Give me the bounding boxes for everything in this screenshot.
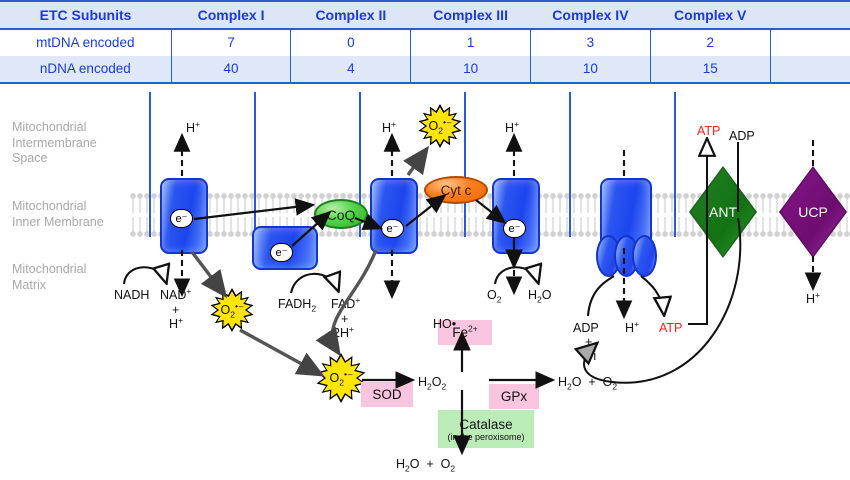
row-label-ndna: nDNA encoded: [0, 56, 171, 83]
cell-mtdna-c4: 3: [531, 29, 651, 56]
complex-iv-body[interactable]: [492, 178, 540, 254]
column-divider-4: [569, 92, 571, 237]
ros-arrow-complex-i: [192, 252, 224, 294]
proton-label-ucp: H+: [806, 292, 820, 306]
complexv-to-atp-arrow: [641, 276, 664, 314]
complex-iii-electron: e⁻: [381, 219, 404, 238]
proton-label-complex-i: H+: [186, 121, 200, 135]
cell-ndna-c3: 10: [411, 56, 531, 83]
table-row: mtDNA encoded 7 0 1 3 2: [0, 29, 850, 56]
column-divider-0: [149, 92, 151, 237]
proton-label-complex-iv: H+: [505, 121, 519, 135]
pi-label: Pi: [585, 349, 596, 363]
complex-iii-body[interactable]: [370, 178, 418, 254]
oxygen-input-label: O2: [487, 288, 501, 302]
col-header-0: ETC Subunits: [0, 1, 171, 29]
adp-to-complexv-arrow: [588, 276, 614, 316]
cell-ndna-spacer: [770, 56, 850, 83]
zone-label-intermembrane-space: Mitochondrial Intermembrane Space: [12, 120, 97, 167]
gpx-label: GPx: [501, 389, 527, 404]
catalase-box[interactable]: Catalase (in the peroxisome): [438, 410, 534, 448]
fadh2-label: FADH2: [278, 297, 316, 311]
coq-carrier[interactable]: CoQ: [314, 199, 368, 229]
adp-label: ADP: [573, 321, 599, 335]
ros-arrow-c1-pool: [240, 330, 320, 374]
fad-2h-label: 2H+: [333, 326, 354, 340]
complex-i-electron: e⁻: [170, 209, 193, 228]
col-header-spacer: [770, 1, 850, 29]
cell-mtdna-c1: 7: [171, 29, 291, 56]
sod-enzyme-box[interactable]: SOD: [361, 382, 413, 407]
col-header-5: Complex V: [650, 1, 770, 29]
gpx-products-label: H2O + O2: [558, 375, 617, 389]
cell-mtdna-c5: 2: [650, 29, 770, 56]
nadh-oxidation-arrow: [124, 267, 166, 284]
fadh2-oxidation-arrow: [291, 274, 338, 293]
atp-ims-label: ATP: [697, 124, 720, 138]
diagram-root: ETC Subunits Complex I Complex II Comple…: [0, 0, 850, 480]
ros-arrow-complex-iii: [408, 150, 426, 175]
etc-subunits-table: ETC Subunits Complex I Complex II Comple…: [0, 0, 850, 84]
superoxide-label-c3: O2• –: [429, 119, 452, 133]
zone-label-matrix: Mitochondrial Matrix: [12, 262, 86, 293]
column-divider-1: [254, 92, 256, 237]
catalase-label: Catalase: [459, 417, 512, 432]
cell-mtdna-spacer: [770, 29, 850, 56]
cell-mtdna-c3: 1: [411, 29, 531, 56]
complex-v-lobe-right: [632, 235, 657, 277]
superoxide-label-c1: O2• –: [221, 303, 244, 317]
complex-ii-electron: e⁻: [270, 243, 293, 262]
superoxide-label-pool: O2• –: [330, 371, 353, 385]
cell-ndna-c5: 15: [650, 56, 770, 83]
atp-matrix-label: ATP: [659, 321, 682, 335]
column-divider-5: [674, 92, 676, 237]
water-output-label: H2O: [528, 288, 552, 302]
hydrogen-peroxide-label: H2O2: [418, 375, 446, 389]
catalase-products-label: H2O + O2: [396, 457, 455, 471]
complex-iv-electron: e⁻: [503, 219, 526, 238]
o2-to-water-arrow: [495, 267, 538, 284]
cytochrome-c-carrier[interactable]: Cyt c: [424, 176, 488, 204]
nad-proton-label: H+: [169, 317, 183, 331]
gpx-enzyme-box[interactable]: GPx: [489, 384, 539, 409]
nad-plus-label: NAD+: [160, 288, 191, 302]
ucp-label: UCP: [798, 204, 828, 220]
nadh-label: NADH: [114, 288, 149, 302]
ant-label: ANT: [709, 204, 737, 220]
column-divider-3: [464, 92, 466, 237]
col-header-4: Complex IV: [531, 1, 651, 29]
cell-mtdna-c2: 0: [291, 29, 411, 56]
col-header-2: Complex II: [291, 1, 411, 29]
zone-label-inner-membrane: Mitochondrial Inner Membrane: [12, 199, 104, 230]
adp-plus-sign: +: [585, 335, 592, 349]
cell-ndna-c4: 10: [531, 56, 651, 83]
ant-transporter[interactable]: ANT: [691, 168, 755, 256]
sod-label: SOD: [372, 387, 401, 402]
catalase-sublabel: (in the peroxisome): [447, 432, 524, 442]
fad-plus-sign: +: [341, 312, 348, 326]
fad-plus-label: FAD+: [331, 297, 360, 311]
cell-ndna-c1: 40: [171, 56, 291, 83]
proton-label-complex-iii: H+: [382, 121, 396, 135]
adp-ims-label: ADP: [729, 129, 755, 143]
table-header-row: ETC Subunits Complex I Complex II Comple…: [0, 1, 850, 29]
table-row: nDNA encoded 40 4 10 10 15: [0, 56, 850, 83]
ucp-transporter[interactable]: UCP: [781, 168, 845, 256]
proton-label-complex-v: H+: [625, 321, 639, 335]
row-label-mtdna: mtDNA encoded: [0, 29, 171, 56]
col-header-3: Complex III: [411, 1, 531, 29]
hydroxyl-radical-label: HO•: [433, 317, 456, 331]
cell-ndna-c2: 4: [291, 56, 411, 83]
col-header-1: Complex I: [171, 1, 291, 29]
